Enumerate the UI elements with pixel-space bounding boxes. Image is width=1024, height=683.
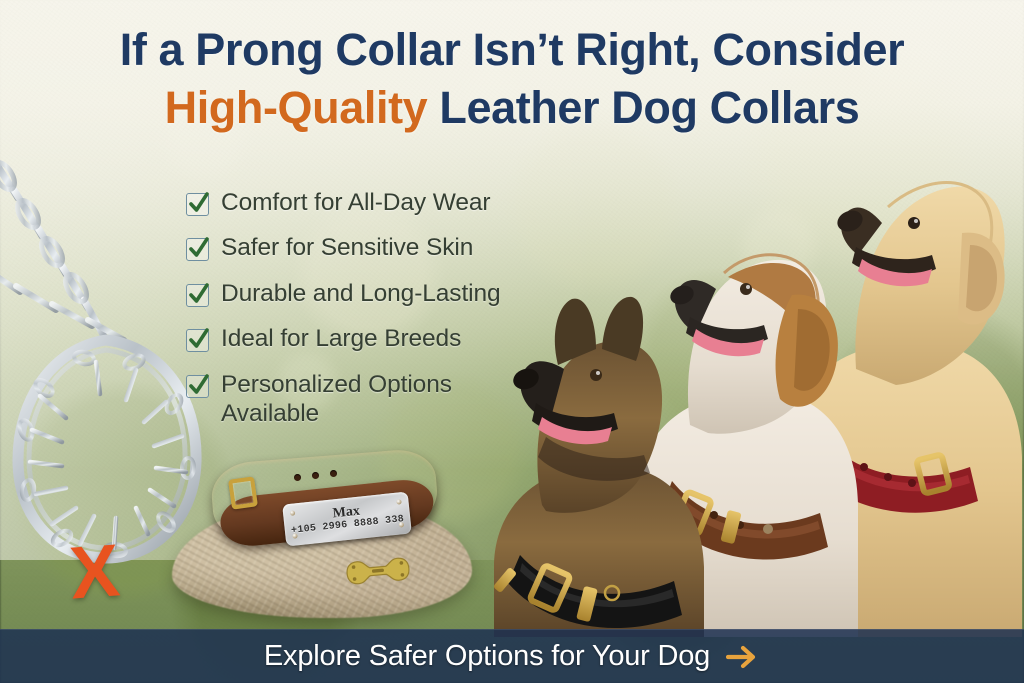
promo-banner: If a Prong Collar Isn’t Right, Consider … — [0, 0, 1024, 683]
headline-rest: Leather Dog Collars — [427, 82, 859, 133]
dogs-illustration — [484, 137, 1024, 637]
nameplate-rivet — [399, 522, 404, 527]
collar-buckle — [228, 476, 258, 509]
dogs-photo — [484, 137, 1024, 637]
arrow-right-icon[interactable] — [726, 644, 760, 670]
benefit-label: Comfort for All-Day Wear — [221, 188, 490, 217]
checkbox-checked-icon — [186, 375, 209, 398]
leather-collar-product: Max +105 2996 8888 338 — [206, 448, 456, 613]
checkbox-checked-icon — [186, 238, 209, 261]
collar-hole — [312, 472, 319, 479]
bone-tag-icon — [345, 553, 411, 588]
cta-label: Explore Safer Options for Your Dog — [264, 640, 710, 673]
nameplate-rivet — [290, 510, 295, 515]
checkbox-checked-icon — [186, 329, 209, 352]
bone-tag — [345, 553, 411, 588]
nameplate-rivet — [292, 533, 297, 538]
x-mark-icon: X — [67, 533, 121, 610]
checkbox-checked-icon — [186, 284, 209, 307]
headline-highlight: High-Quality — [165, 82, 428, 133]
collar-hole — [294, 474, 301, 481]
collar-hole — [330, 470, 337, 477]
nameplate-rivet — [396, 499, 401, 504]
benefit-label: Personalized Options Available — [221, 370, 491, 429]
headline: If a Prong Collar Isn’t Right, Consider … — [0, 24, 1024, 134]
benefit-label: Ideal for Large Breeds — [221, 324, 461, 353]
headline-line-2: High-Quality Leather Dog Collars — [0, 82, 1024, 134]
headline-line-1: If a Prong Collar Isn’t Right, Consider — [0, 24, 1024, 76]
cta-bar[interactable]: Explore Safer Options for Your Dog — [0, 629, 1024, 683]
benefit-label: Safer for Sensitive Skin — [221, 233, 473, 262]
checkbox-checked-icon — [186, 193, 209, 216]
benefit-label: Durable and Long-Lasting — [221, 279, 501, 308]
